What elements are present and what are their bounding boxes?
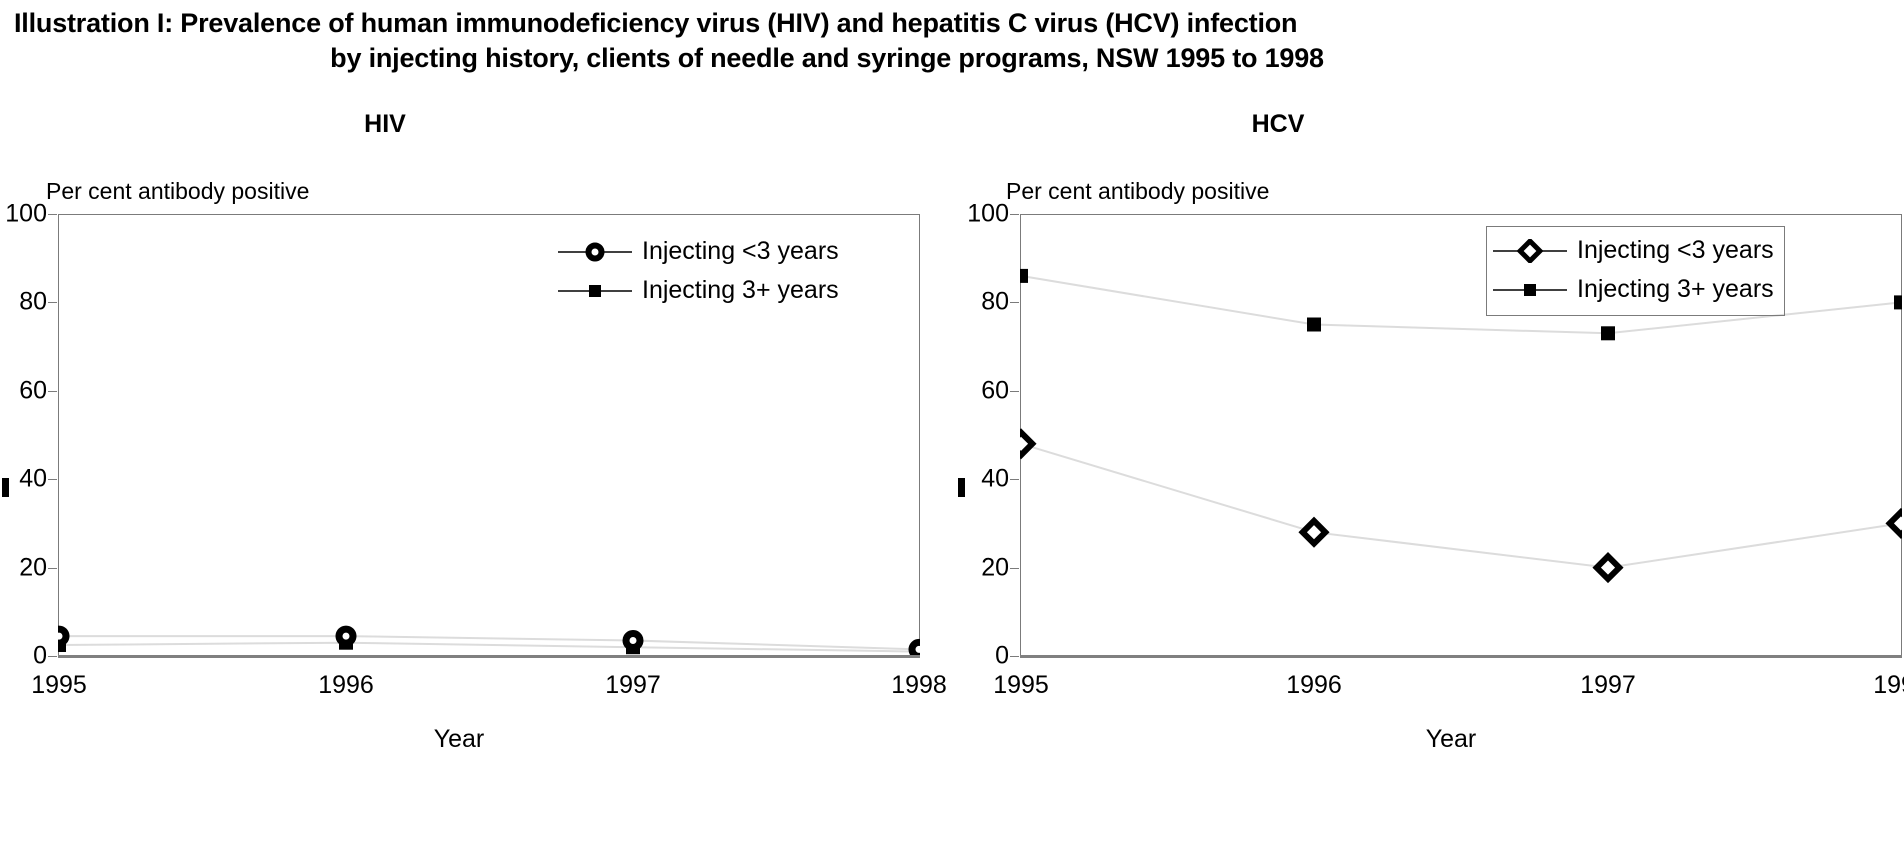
xtick-label-hiv-1995: 1995	[31, 673, 87, 698]
circle-open-marker-icon	[558, 240, 632, 264]
ytick-dash	[48, 656, 57, 657]
diamond-open-marker-icon	[1493, 239, 1567, 263]
zero-baseline-hcv	[1020, 655, 1902, 658]
ytick-label-hcv-60: 60	[981, 378, 1009, 403]
ytick-dash	[48, 568, 57, 569]
axis-edge-artifact-hiv	[2, 478, 9, 497]
axis-edge-artifact-hcv	[958, 478, 965, 497]
xaxis-title-hcv: Year	[1020, 725, 1902, 754]
ytick-label-hiv-80: 80	[19, 290, 47, 315]
ytick-dash	[48, 214, 57, 215]
series-markers-injecting-lt3-hcv	[1020, 432, 1902, 578]
figure-title-line-2: by injecting history, clients of needle …	[0, 41, 1640, 76]
xtick-label-hiv-1998: 1998	[891, 673, 947, 698]
ytick-dash	[48, 391, 57, 392]
ytick-label-hcv-20: 20	[981, 555, 1009, 580]
plot-area-hiv: 100 80 60 40 20 0	[58, 214, 920, 656]
legend-hcv: Injecting <3 years Injecting 3+ years	[1486, 226, 1785, 316]
ytick-dash	[1010, 214, 1019, 215]
ytick-dash	[1010, 479, 1019, 480]
series-line-injecting-lt3-hiv	[59, 636, 919, 649]
panel-title-hiv: HIV	[0, 110, 950, 139]
legend-label-injecting-3plus-hcv: Injecting 3+ years	[1577, 277, 1774, 302]
ytick-dash	[1010, 391, 1019, 392]
ytick-dash	[48, 302, 57, 303]
series-line-injecting-3plus-hiv	[59, 643, 919, 652]
xtick-label-hcv-1998: 1998	[1873, 673, 1904, 698]
series-line-injecting-lt3-hcv	[1021, 444, 1901, 568]
xtick-label-hiv-1997: 1997	[605, 673, 661, 698]
ytick-dash	[1010, 656, 1019, 657]
legend-item-injecting-3plus-hiv: Injecting 3+ years	[558, 271, 839, 310]
figure-title: Illustration I: Prevalence of human immu…	[0, 6, 1640, 75]
ytick-label-hiv-40: 40	[19, 467, 47, 492]
legend-label-injecting-lt3-hiv: Injecting <3 years	[642, 239, 839, 264]
legend-item-injecting-lt3-hcv: Injecting <3 years	[1493, 231, 1774, 270]
square-filled-marker-icon	[558, 279, 632, 303]
xtick-label-hcv-1997: 1997	[1580, 673, 1636, 698]
xtick-label-hcv-1996: 1996	[1286, 673, 1342, 698]
chart-panel-hcv: HCV Per cent antibody positive 100 80 60…	[952, 96, 1904, 856]
xtick-label-hiv-1996: 1996	[318, 673, 374, 698]
xaxis-title-hiv: Year	[58, 725, 920, 754]
ytick-dash	[1010, 568, 1019, 569]
ytick-label-hiv-60: 60	[19, 378, 47, 403]
figure-title-line-1: Illustration I: Prevalence of human immu…	[0, 6, 1640, 41]
plot-area-hcv: 100 80 60 40 20 0	[1020, 214, 1902, 656]
ytick-label-hcv-100: 100	[967, 202, 1009, 227]
chart-panel-hiv: HIV Per cent antibody positive 100 80 60…	[0, 96, 950, 856]
panel-title-hcv: HCV	[952, 110, 1904, 139]
legend-label-injecting-3plus-hiv: Injecting 3+ years	[642, 278, 839, 303]
ytick-dash	[1010, 302, 1019, 303]
zero-baseline-hiv	[58, 655, 920, 658]
legend-label-injecting-lt3-hcv: Injecting <3 years	[1577, 238, 1774, 263]
ytick-label-hcv-80: 80	[981, 290, 1009, 315]
yaxis-note-hcv: Per cent antibody positive	[1006, 178, 1269, 205]
ytick-label-hiv-0: 0	[33, 644, 47, 669]
series-markers-injecting-lt3-hiv	[58, 629, 920, 656]
legend-item-injecting-3plus-hcv: Injecting 3+ years	[1493, 270, 1774, 309]
ytick-label-hcv-0: 0	[995, 644, 1009, 669]
square-filled-marker-icon	[1493, 278, 1567, 302]
ytick-dash	[48, 479, 57, 480]
legend-hiv: Injecting <3 years Injecting 3+ years	[558, 232, 839, 310]
xtick-label-hcv-1995: 1995	[993, 673, 1049, 698]
legend-item-injecting-lt3-hiv: Injecting <3 years	[558, 232, 839, 271]
ytick-label-hcv-40: 40	[981, 467, 1009, 492]
ytick-label-hiv-100: 100	[5, 202, 47, 227]
yaxis-note-hiv: Per cent antibody positive	[46, 178, 309, 205]
ytick-label-hiv-20: 20	[19, 555, 47, 580]
